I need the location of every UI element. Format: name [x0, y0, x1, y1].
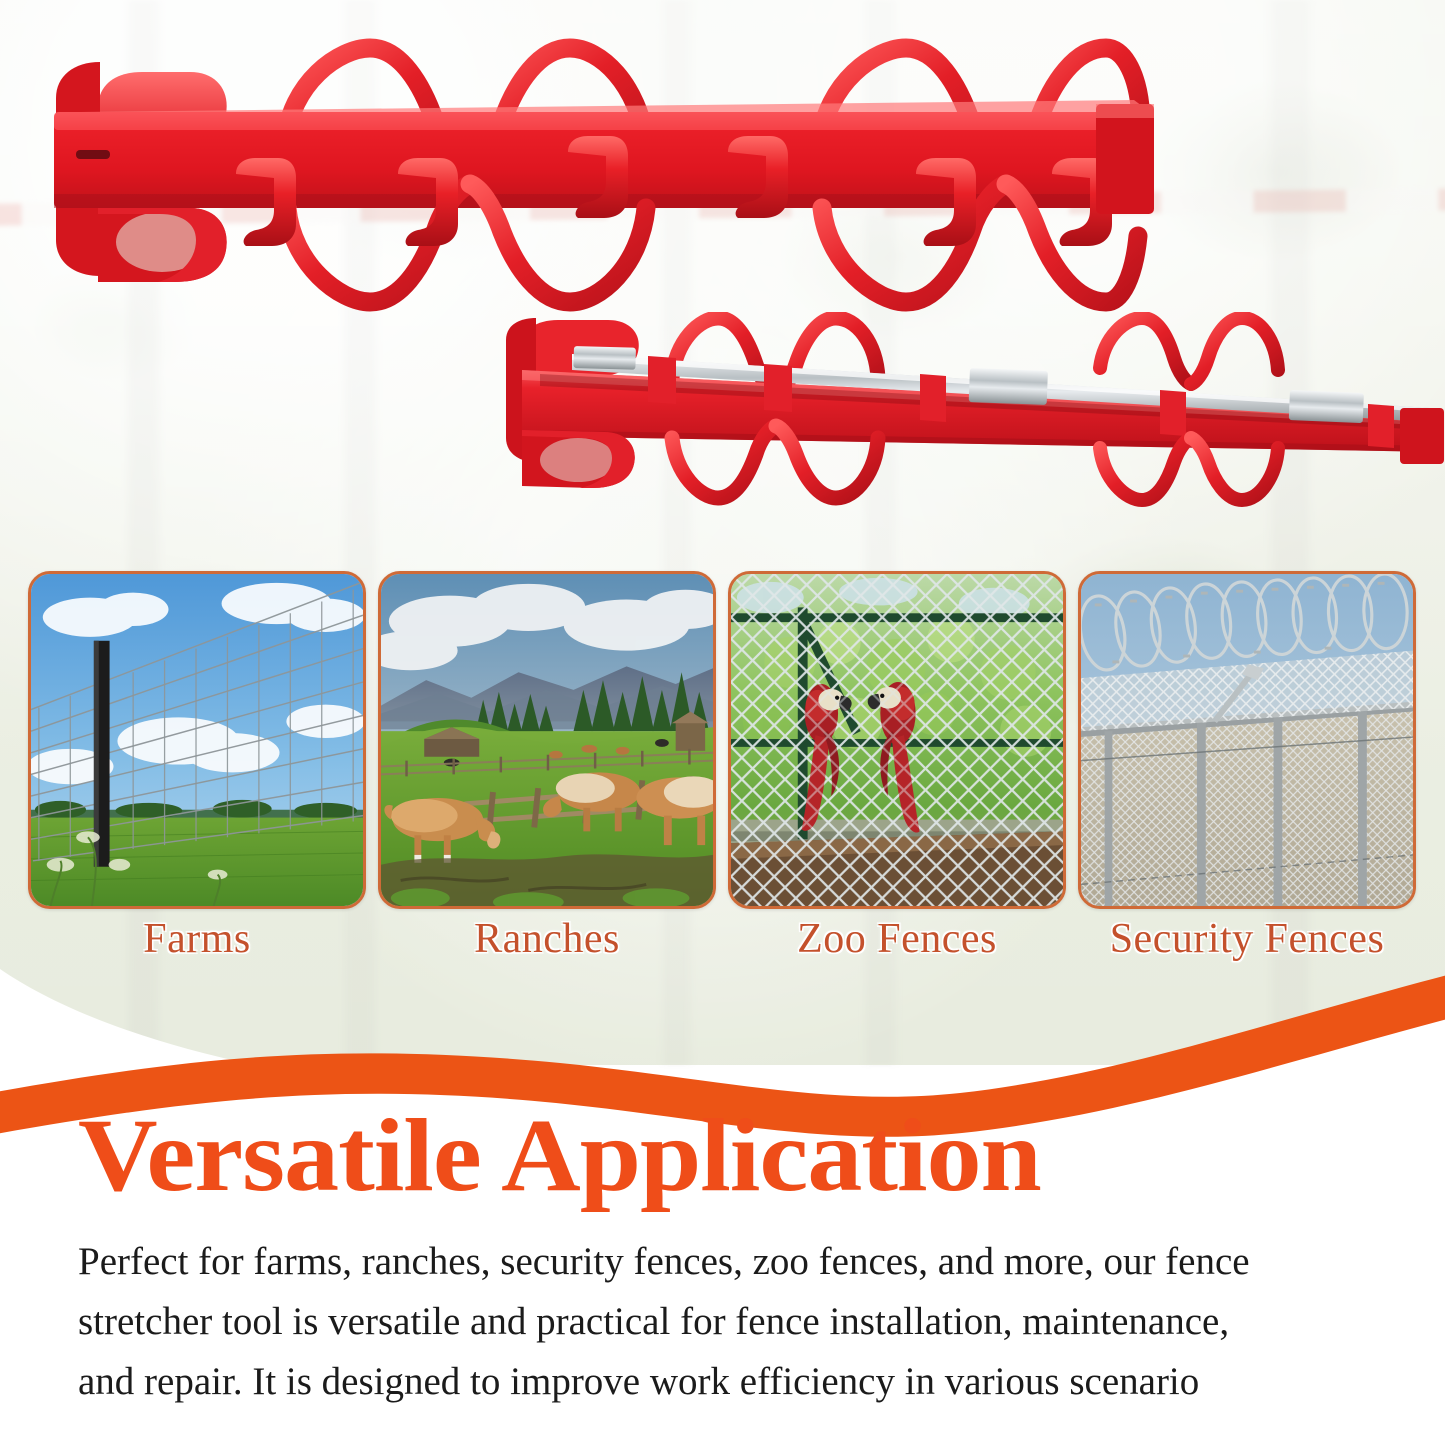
product-image-top: [40, 26, 1160, 316]
gallery-card-security-fences[interactable]: [1078, 571, 1416, 909]
gallery-card-zoo-fences[interactable]: [728, 571, 1066, 909]
page-headline: Versatile Application: [78, 1104, 1041, 1208]
body-line-2: stretcher tool is versatile and practica…: [78, 1292, 1378, 1352]
product-marketing-poster: Farms Ranches Zoo Fences Security Fences…: [0, 0, 1445, 1445]
page-body-copy: Perfect for farms, ranches, security fen…: [78, 1232, 1378, 1412]
application-gallery: [0, 571, 1445, 911]
product-image-bottom: [500, 312, 1445, 517]
gallery-card-farms[interactable]: [28, 571, 366, 909]
body-line-3: and repair. It is designed to improve wo…: [78, 1352, 1378, 1412]
body-line-1: Perfect for farms, ranches, security fen…: [78, 1232, 1378, 1292]
gallery-card-ranches[interactable]: [378, 571, 716, 909]
